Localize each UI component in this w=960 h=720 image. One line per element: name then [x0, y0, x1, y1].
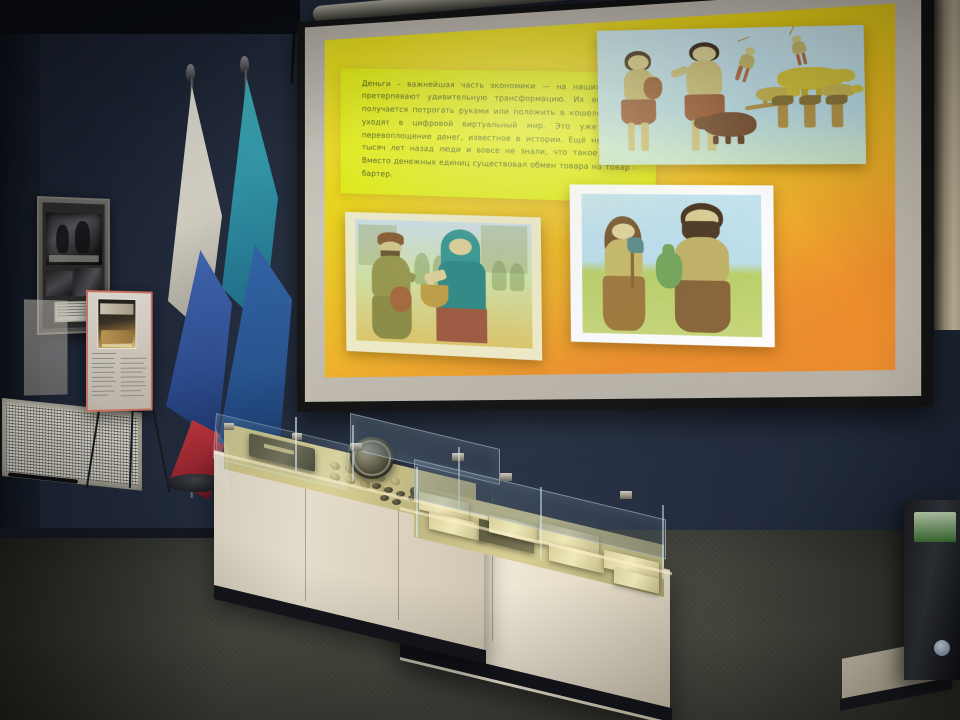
glass-edge [540, 487, 542, 559]
slide-image-barter-livestock [597, 25, 866, 165]
photo-table [49, 255, 98, 262]
info-board-poster [97, 298, 137, 349]
poster-illustration [101, 330, 133, 343]
coin [392, 499, 401, 505]
screen-frame: Деньги – важнейшая часть экономики — на … [297, 0, 933, 412]
illustration-toolhead-2 [799, 95, 821, 105]
photo-figure-right [75, 221, 89, 253]
market-crowd-4 [510, 263, 525, 291]
market-figure-merchant [365, 231, 418, 340]
market-figure-woman [431, 229, 492, 344]
beige-column [934, 0, 960, 330]
baseboard [0, 528, 220, 538]
presentation-slide[interactable]: Деньги – важнейшая часть экономики — на … [325, 3, 896, 377]
glass-edge [662, 505, 664, 579]
photo-secondary-a [46, 270, 73, 295]
glass-bracket [224, 423, 234, 430]
info-board-text-column-1 [92, 353, 116, 405]
market-crowd-3 [492, 260, 507, 290]
grain-basket [421, 285, 449, 309]
kiosk-emblem [934, 640, 950, 656]
ceiling-shadow [0, 0, 300, 34]
poster-title-band [100, 303, 133, 314]
axe-scene-background [581, 194, 761, 338]
slide-image-barter-axe [569, 184, 774, 347]
poster-subtitle-band [102, 344, 132, 347]
woman-skirt [437, 308, 488, 344]
info-board-text-column-2 [121, 358, 147, 405]
display-case-group [200, 395, 700, 685]
market-clay-pot [391, 286, 412, 313]
illustration-toolhead-3 [826, 95, 848, 105]
axe-figure-man [666, 203, 740, 334]
coin [372, 483, 381, 489]
glass-edge [295, 417, 297, 471]
illustration-clay-pot [643, 77, 662, 99]
vessel-neck [662, 244, 674, 260]
axe-head [627, 237, 643, 253]
axe-figure-woman [595, 216, 653, 332]
glass-edge [352, 425, 354, 481]
screen-surface: Деньги – важнейшая часть экономики — на … [305, 0, 921, 402]
market-background [355, 219, 533, 348]
slide-image-barter-market [345, 212, 542, 361]
glass-bracket [620, 491, 632, 499]
projection-screen[interactable]: Деньги – важнейшая часть экономики — на … [297, 0, 933, 412]
coin [390, 476, 400, 487]
slide-body-text: Деньги – важнейшая часть экономики — на … [362, 78, 636, 199]
museum-hall-scene: Деньги – важнейшая часть экономики — на … [0, 0, 960, 720]
info-board-secondary [24, 299, 68, 395]
illustration-pig [703, 113, 757, 138]
illustration-figure-man-left [613, 51, 667, 151]
standing-info-board[interactable] [86, 290, 153, 412]
glass-bracket [292, 433, 302, 440]
radiator-grille [6, 403, 138, 485]
kiosk-green-label [914, 512, 956, 542]
glass-bracket [500, 473, 512, 481]
illustration-toolhead-1 [772, 96, 794, 106]
photo-main [46, 212, 102, 265]
photo-figure-left [56, 224, 68, 253]
